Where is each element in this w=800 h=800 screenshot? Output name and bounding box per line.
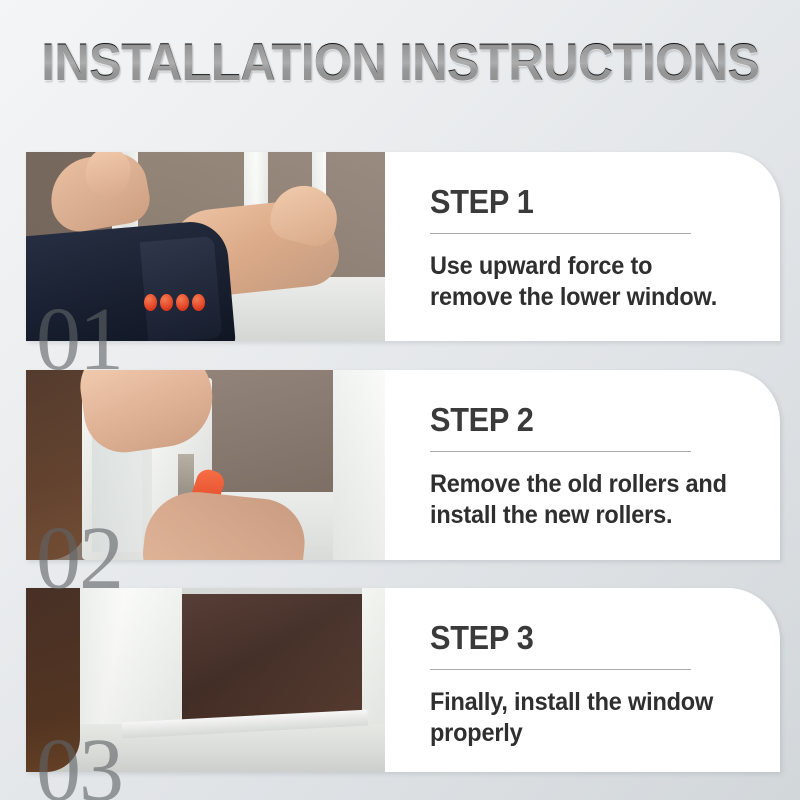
photo-cuff-button xyxy=(144,294,157,311)
step-text-2: STEP 2 Remove the old rollers and instal… xyxy=(430,370,746,560)
step-photo-2: 02 xyxy=(26,370,385,560)
step-card-1: 01 STEP 1 Use upward force to remove the… xyxy=(26,152,780,341)
page-title: INSTALLATION INSTRUCTIONS xyxy=(41,34,759,92)
step-photo-1: 01 xyxy=(26,152,385,341)
step-heading-2: STEP 2 xyxy=(430,402,724,438)
photo-wood-floor xyxy=(26,588,80,772)
step-photo-1-image xyxy=(26,152,385,341)
step-text-3: STEP 3 Finally, install the window prope… xyxy=(430,588,746,772)
photo-wood-floor xyxy=(26,370,88,560)
step-description-2: Remove the old rollers and install the n… xyxy=(430,469,727,531)
step-text-1: STEP 1 Use upward force to remove the lo… xyxy=(430,152,746,341)
step-photo-3: 03 xyxy=(26,588,385,772)
photo-cuff-button xyxy=(160,294,173,311)
step-photo-2-image xyxy=(26,370,385,560)
photo-jacket-cuff xyxy=(140,236,223,341)
step-description-3: Finally, install the window properly xyxy=(430,687,727,749)
step-description-1: Use upward force to remove the lower win… xyxy=(430,251,727,313)
step-card-3: 03 STEP 3 Finally, install the window pr… xyxy=(26,588,780,772)
photo-window-rail-right xyxy=(333,370,385,560)
step-heading-1: STEP 1 xyxy=(430,184,724,220)
step-divider-3 xyxy=(430,669,691,670)
step-divider-1 xyxy=(430,233,691,234)
photo-cuff-button xyxy=(176,294,189,311)
photo-cuff-button xyxy=(192,294,205,311)
page-header: INSTALLATION INSTRUCTIONS xyxy=(0,34,800,92)
photo-dark-panel-left xyxy=(176,594,366,726)
step-heading-3: STEP 3 xyxy=(430,620,724,656)
step-photo-3-image xyxy=(26,588,385,772)
photo-wall-panel xyxy=(204,370,344,507)
step-card-2: 02 STEP 2 Remove the old rollers and ins… xyxy=(26,370,780,560)
step-divider-2 xyxy=(430,451,691,452)
